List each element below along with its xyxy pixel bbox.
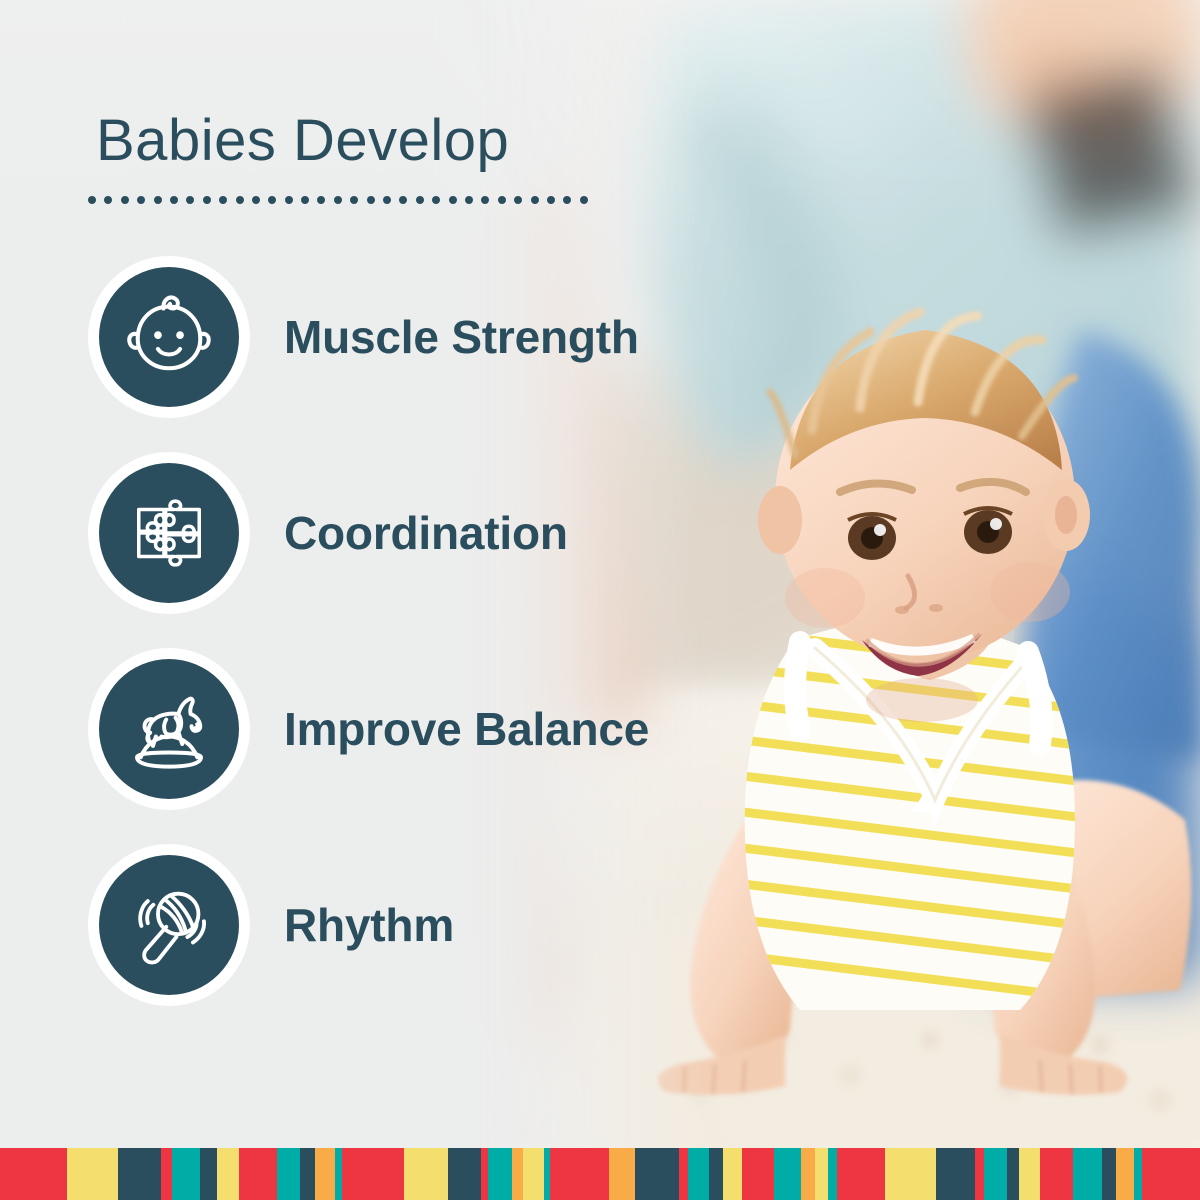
stripe-bar bbox=[679, 1148, 688, 1200]
stripe-bar bbox=[277, 1148, 300, 1200]
stripe-bar bbox=[1142, 1148, 1200, 1200]
feature-icon-badge bbox=[88, 256, 250, 418]
feature-icon-badge bbox=[88, 844, 250, 1006]
stripe-bar bbox=[801, 1148, 815, 1200]
stripe-bar bbox=[161, 1148, 172, 1200]
stripe-bar bbox=[315, 1148, 335, 1200]
stripe-bar bbox=[975, 1148, 983, 1200]
stripe-bar bbox=[936, 1148, 975, 1200]
stripe-bar bbox=[828, 1148, 837, 1200]
stripe-bar bbox=[1102, 1148, 1117, 1200]
stripe-bar bbox=[837, 1148, 886, 1200]
stripe-bar bbox=[67, 1148, 118, 1200]
stripe-bar bbox=[723, 1148, 742, 1200]
stripe-bar bbox=[1019, 1148, 1040, 1200]
icon-disc bbox=[99, 855, 239, 995]
stripe-bar bbox=[448, 1148, 481, 1200]
stripe-bar bbox=[550, 1148, 609, 1200]
stripe-bar bbox=[1073, 1148, 1101, 1200]
stripe-bar bbox=[1134, 1148, 1141, 1200]
stripe-bar bbox=[635, 1148, 679, 1200]
icon-disc bbox=[99, 267, 239, 407]
stripe-bar bbox=[512, 1148, 523, 1200]
stripe-bar bbox=[1007, 1148, 1020, 1200]
stripe-bar bbox=[342, 1148, 404, 1200]
stripe-bar bbox=[774, 1148, 801, 1200]
stripe-bar bbox=[217, 1148, 239, 1200]
stripe-bar bbox=[0, 1148, 67, 1200]
stripe-bar bbox=[239, 1148, 277, 1200]
rattle-icon bbox=[123, 879, 215, 971]
poster-canvas: Babies Develop bbox=[0, 0, 1200, 1200]
feature-list: Muscle Strength bbox=[0, 0, 1200, 1148]
stripe-bar bbox=[118, 1148, 161, 1200]
stripe-bar bbox=[488, 1148, 512, 1200]
feature-label: Coordination bbox=[284, 506, 568, 560]
feature-row-muscle-strength[interactable]: Muscle Strength bbox=[88, 256, 639, 418]
feature-row-rhythm[interactable]: Rhythm bbox=[88, 844, 454, 1006]
feature-label: Improve Balance bbox=[284, 702, 649, 756]
footer-color-stripe bbox=[0, 1148, 1200, 1200]
feature-label: Muscle Strength bbox=[284, 310, 639, 364]
stripe-bar bbox=[815, 1148, 828, 1200]
feature-icon-badge bbox=[88, 452, 250, 614]
puzzle-icon bbox=[127, 491, 211, 575]
feature-row-improve-balance[interactable]: Improve Balance bbox=[88, 648, 649, 810]
stripe-bar bbox=[300, 1148, 315, 1200]
stripe-bar bbox=[742, 1148, 774, 1200]
stripe-bar bbox=[200, 1148, 217, 1200]
stripe-bar bbox=[609, 1148, 634, 1200]
stripe-bar bbox=[523, 1148, 544, 1200]
stripe-bar bbox=[404, 1148, 448, 1200]
stripe-bar bbox=[984, 1148, 1007, 1200]
stripe-bar bbox=[885, 1148, 936, 1200]
feature-label: Rhythm bbox=[284, 898, 454, 952]
feature-row-coordination[interactable]: Coordination bbox=[88, 452, 568, 614]
icon-disc bbox=[99, 463, 239, 603]
stripe-bar bbox=[481, 1148, 488, 1200]
stripe-bar bbox=[688, 1148, 709, 1200]
baby-face-icon bbox=[123, 291, 215, 383]
stripe-bar bbox=[709, 1148, 723, 1200]
stripe-bar bbox=[172, 1148, 200, 1200]
feature-icon-badge bbox=[88, 648, 250, 810]
rocking-horse-icon bbox=[122, 682, 216, 776]
icon-disc bbox=[99, 659, 239, 799]
stripe-bar bbox=[1116, 1148, 1134, 1200]
stripe-bar bbox=[1040, 1148, 1073, 1200]
